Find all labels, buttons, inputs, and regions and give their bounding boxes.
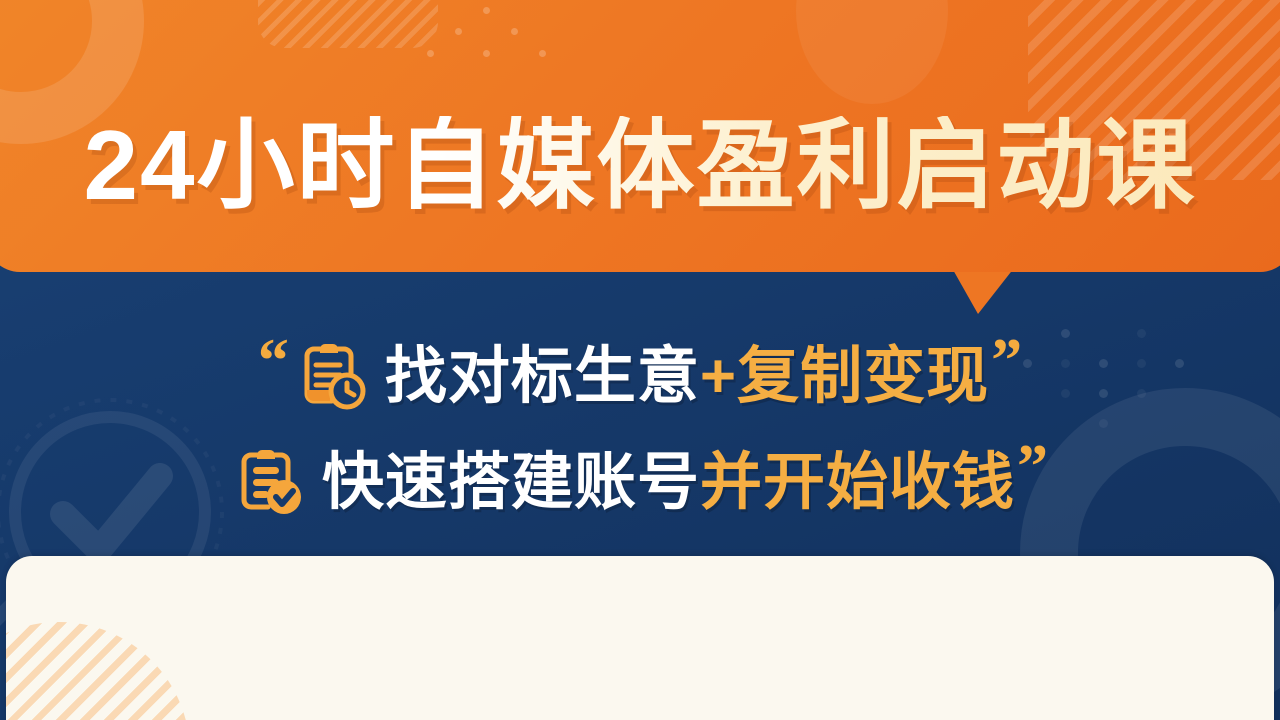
headline-1-gold-text: +复制变现 (700, 346, 989, 408)
clipboard-clock-icon (295, 340, 369, 414)
headline-2-white-text: 快速搭建账号 (322, 452, 700, 514)
headline-line-2: 快速搭建账号 并开始收钱 ” (0, 432, 1280, 534)
clipboard-check-icon (232, 446, 306, 520)
headline-line-1: “ 找对标生意 +复制变现 ” (0, 326, 1280, 428)
orange-stripes-decoration-left (258, 0, 438, 48)
orange-blob-decoration (796, 0, 948, 104)
quote-close-icon-2: ” (1017, 436, 1048, 498)
cream-striped-circle-decoration (6, 622, 190, 720)
headline-1-white-text: 找对标生意 (385, 346, 700, 408)
headline-2-gold-text: 并开始收钱 (700, 452, 1015, 514)
quote-open-icon: “ (258, 330, 289, 392)
orange-dot-grid-decoration (416, 0, 556, 64)
poster-root: 24小时自媒体盈利启动课 “ (0, 0, 1280, 720)
speech-bubble-tail (952, 268, 1014, 314)
bottom-content-panel (6, 556, 1274, 720)
quote-close-icon-1: ” (991, 330, 1022, 392)
headline-block: “ 找对标生意 +复制变现 ” (0, 326, 1280, 534)
poster-title: 24小时自媒体盈利启动课 (0, 116, 1280, 214)
